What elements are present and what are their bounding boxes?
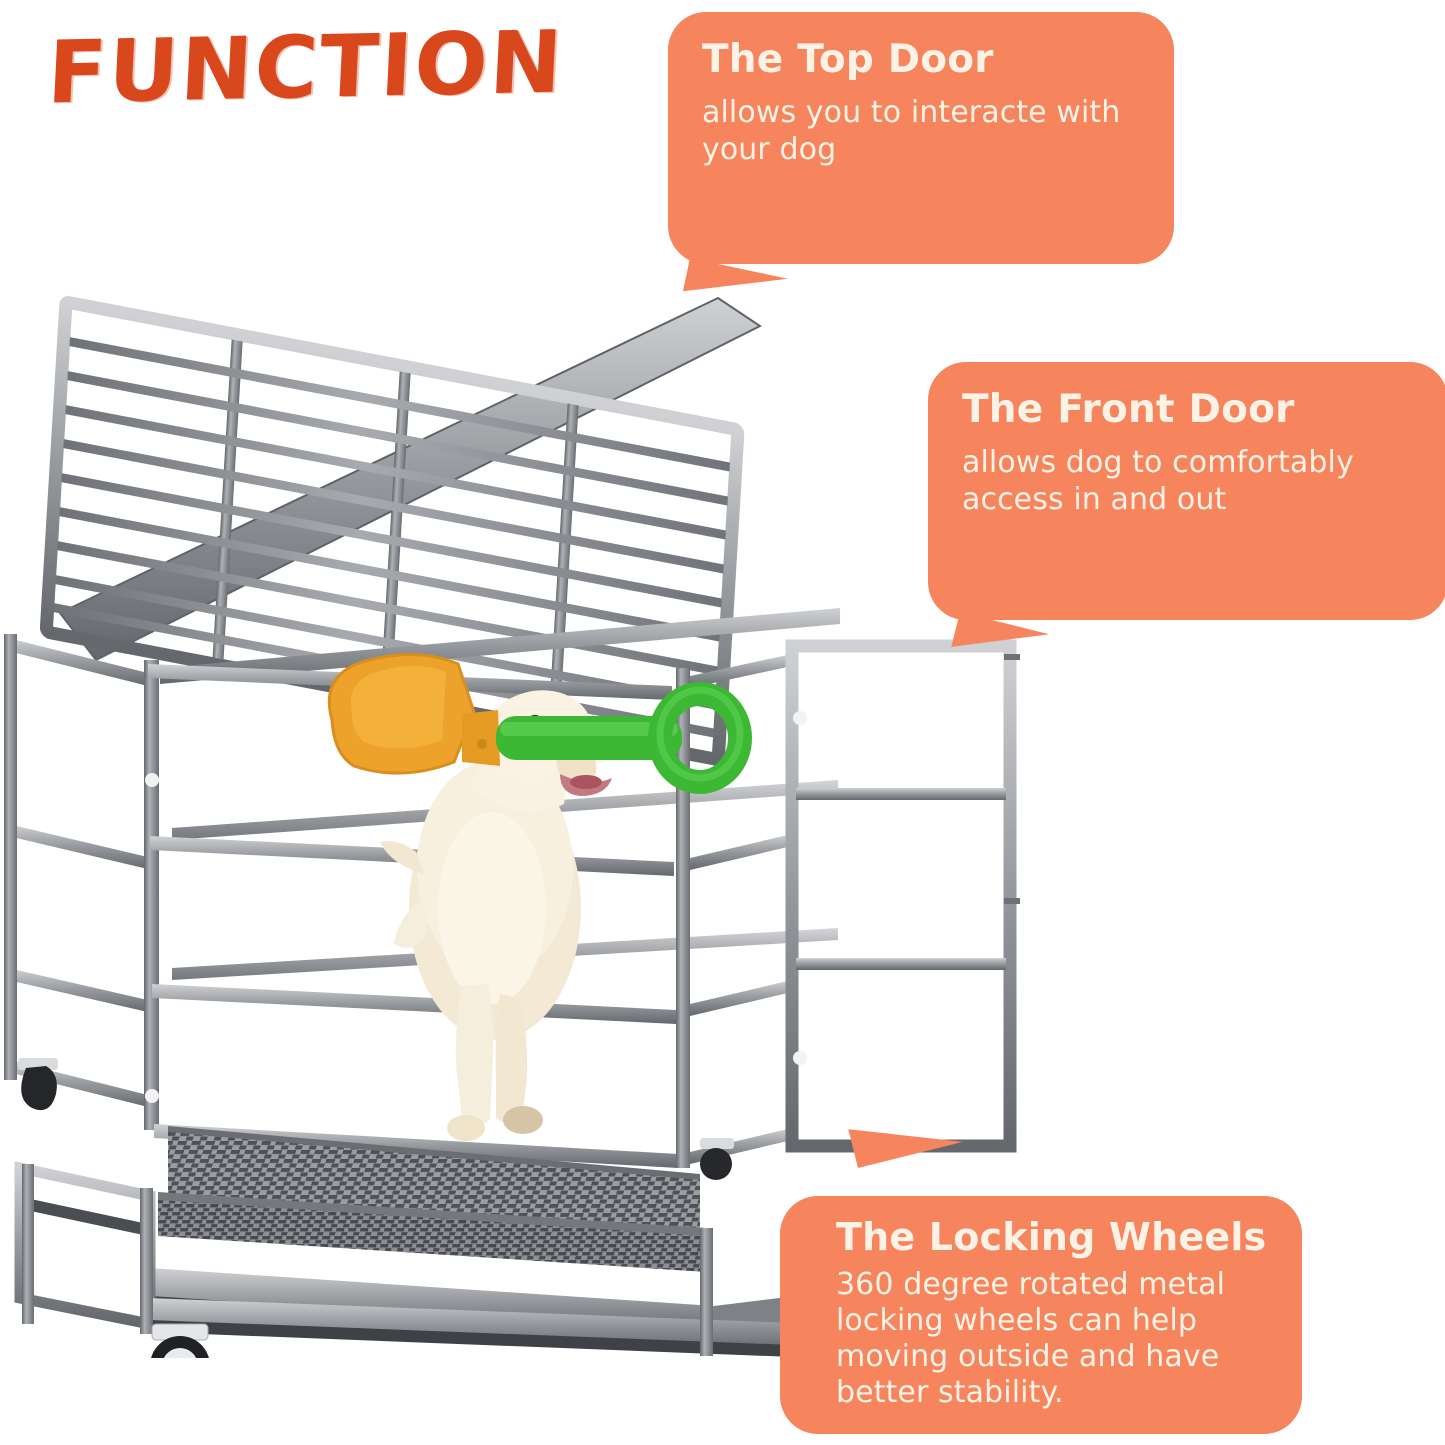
callout-front-door-title: The Front Door [962, 388, 1418, 432]
infographic-canvas: FUNCTION [0, 0, 1445, 1445]
callout-locking-wheels-title: The Locking Wheels [836, 1216, 1278, 1259]
callout-front-door: The Front Door allows dog to comfortably… [928, 362, 1445, 620]
caster-wheel-front-left [150, 1324, 210, 1358]
caster-wheel-back-left [18, 1058, 58, 1110]
callout-locking-wheels-body: 360 degree rotated metal locking wheels … [836, 1267, 1278, 1411]
callout-top-door-body: allows you to interacte with your dog [702, 94, 1144, 170]
page-title: FUNCTION [45, 13, 566, 124]
product-photo [0, 268, 1030, 1358]
caster-wheel-back-right [700, 1138, 734, 1180]
callout-locking-wheels: The Locking Wheels 360 degree rotated me… [780, 1196, 1302, 1434]
callout-top-door-title: The Top Door [702, 38, 1144, 82]
callout-top-door: The Top Door allows you to interacte wit… [668, 12, 1174, 264]
cage-left-side-panel [4, 634, 152, 1108]
callout-front-door-body: allows dog to comfortably access in and … [962, 444, 1418, 520]
